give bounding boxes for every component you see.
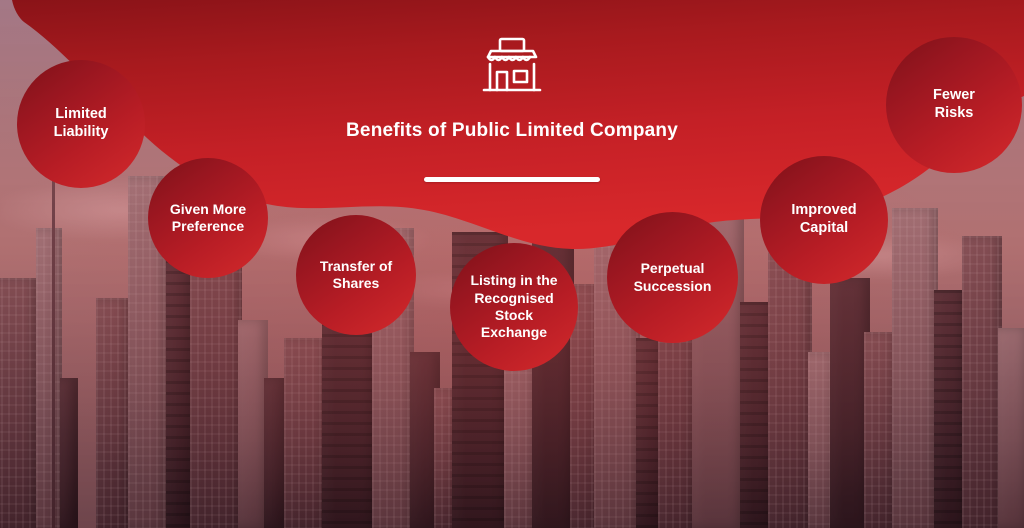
infographic-root: Benefits of Public Limited Company Limit… (0, 0, 1024, 528)
benefit-bubble-listing-stock-exchange[interactable]: Listing in the Recognised Stock Exchange (450, 243, 578, 371)
benefit-bubble-improved-capital[interactable]: Improved Capital (760, 156, 888, 284)
benefit-label: Given More Preference (162, 201, 254, 236)
storefront-icon (479, 36, 545, 94)
benefit-bubble-fewer-risks[interactable]: Fewer Risks (886, 37, 1022, 173)
benefit-bubble-transfer-of-shares[interactable]: Transfer of Shares (296, 215, 416, 335)
benefit-bubble-limited-liability[interactable]: Limited Liability (17, 60, 145, 188)
benefit-bubble-given-more-preference[interactable]: Given More Preference (148, 158, 268, 278)
page-title: Benefits of Public Limited Company (0, 120, 1024, 142)
benefit-label: Perpetual Succession (626, 260, 720, 295)
benefit-label: Limited Liability (46, 106, 117, 142)
title-underline (424, 177, 600, 182)
benefit-label: Transfer of Shares (312, 258, 400, 293)
benefit-label: Listing in the Recognised Stock Exchange (462, 272, 565, 341)
benefit-label: Fewer Risks (925, 87, 983, 123)
benefit-label: Improved Capital (783, 202, 864, 238)
benefit-bubble-perpetual-succession[interactable]: Perpetual Succession (607, 212, 738, 343)
